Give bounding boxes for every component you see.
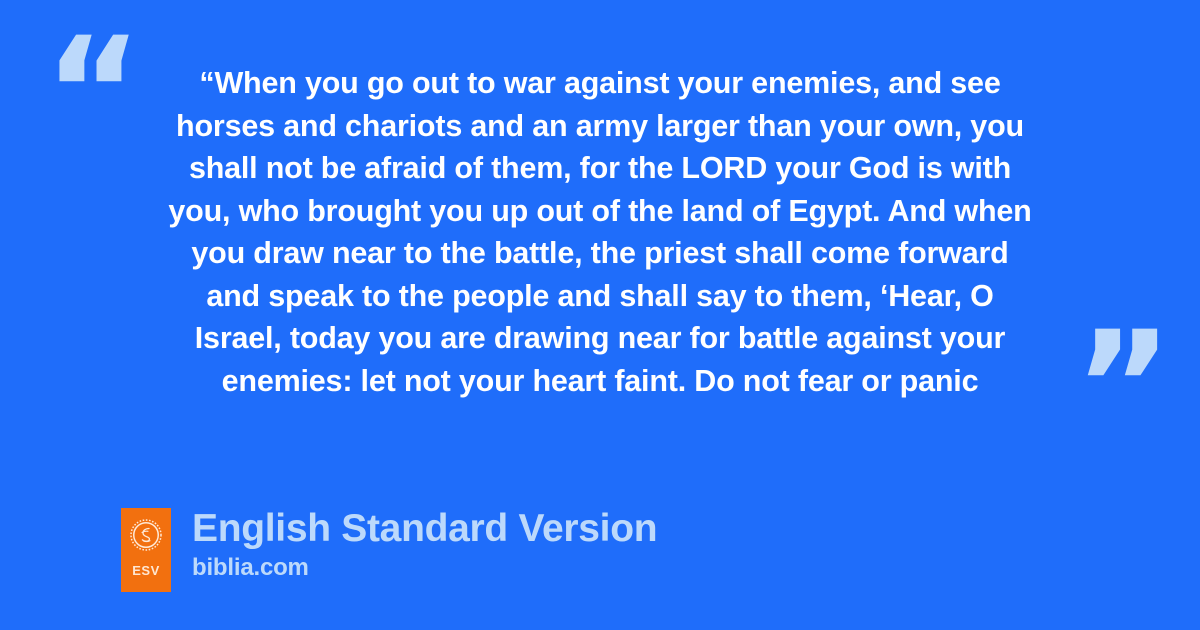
quote-line: you draw near to the battle, the priest … bbox=[105, 232, 1095, 275]
quote-line: and speak to the people and shall say to… bbox=[105, 275, 1095, 318]
quote-line: Israel, today you are drawing near for b… bbox=[105, 317, 1095, 360]
quote-text-block: “When you go out to war against your ene… bbox=[105, 62, 1095, 402]
esv-seal-icon bbox=[130, 519, 162, 551]
quote-line: enemies: let not your heart faint. Do no… bbox=[105, 360, 1095, 403]
website-label[interactable]: biblia.com bbox=[192, 553, 657, 583]
esv-logo-abbr: ESV bbox=[132, 563, 160, 578]
quote-line: you, who brought you up out of the land … bbox=[105, 190, 1095, 233]
quote-card: “ ” “When you go out to war against your… bbox=[0, 0, 1200, 630]
quote-line: shall not be afraid of them, for the LOR… bbox=[105, 147, 1095, 190]
quote-line: horses and chariots and an army larger t… bbox=[105, 105, 1095, 148]
attribution-text: English Standard Version biblia.com bbox=[192, 505, 657, 583]
bible-version-title: English Standard Version bbox=[192, 505, 657, 552]
esv-logo: ESV bbox=[121, 508, 171, 592]
attribution: ESV English Standard Version biblia.com bbox=[121, 508, 657, 592]
quote-line: “When you go out to war against your ene… bbox=[105, 62, 1095, 105]
